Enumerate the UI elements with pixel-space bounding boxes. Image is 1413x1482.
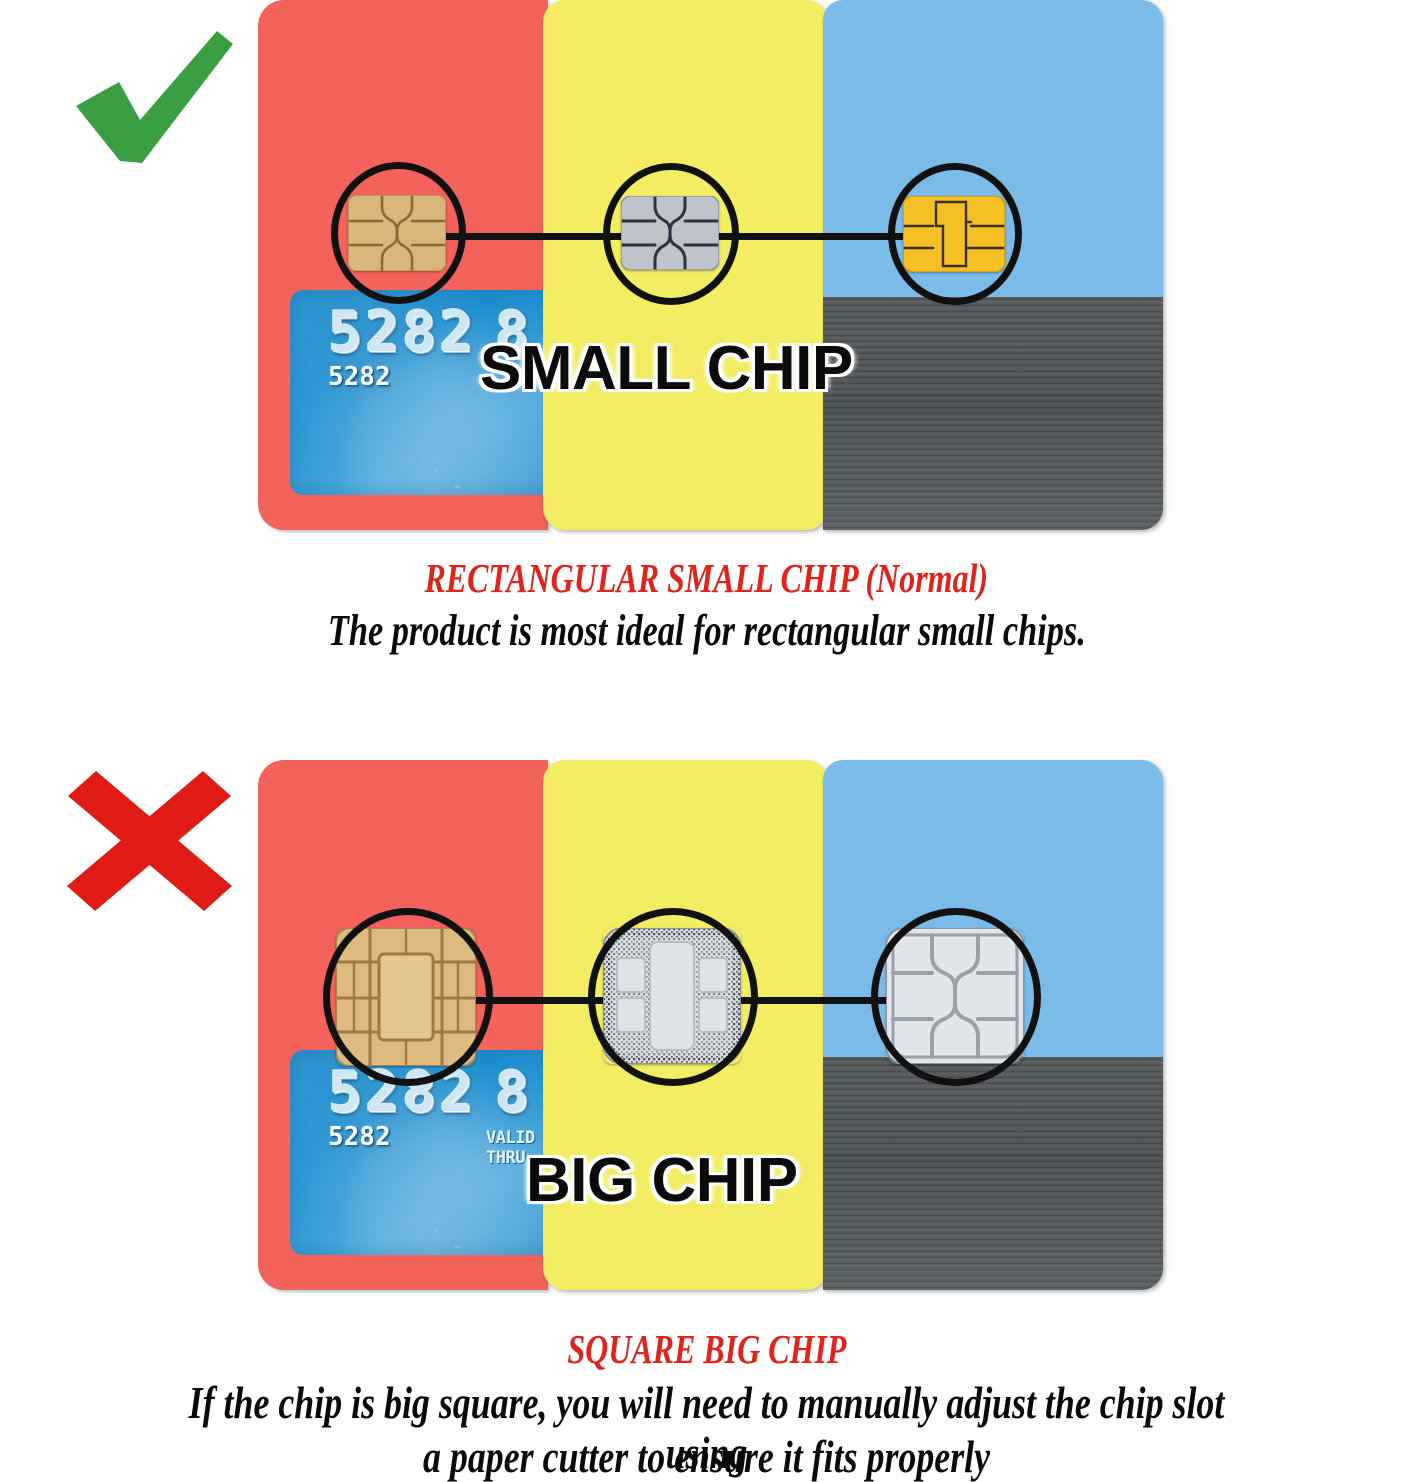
magnetic-stripe (823, 297, 1163, 530)
embossed-card-number-partial-big: 8 (495, 1060, 532, 1125)
magnifier-circle-big-1 (323, 908, 493, 1086)
card-label-small-chip: SMALL CHIP (480, 333, 853, 404)
magnifier-circle-3 (888, 163, 1022, 305)
magnifier-circle-2 (603, 163, 739, 305)
printed-card-number: 5282 (328, 362, 391, 392)
magnifier-circle-big-2 (588, 908, 758, 1086)
printed-card-number-big: 5282 (328, 1122, 391, 1152)
magnifier-circle-big-3 (871, 908, 1041, 1086)
section-big-chip: 5282 8 5282 VALID THRU (0, 740, 1413, 1457)
green-check-icon (62, 28, 237, 173)
section-small-chip: 5282 8 5282 (0, 0, 1413, 700)
card-label-big-chip: BIG CHIP (526, 1145, 798, 1216)
caption-title-small-chip-text: RECTANGULAR SMALL CHIP (Normal) (425, 556, 989, 600)
card-stack-big-chip: 5282 8 5282 VALID THRU (258, 760, 1163, 1290)
magnifier-circle-1 (331, 162, 466, 304)
caption-body-small-chip-text: The product is most ideal for rectangula… (328, 607, 1086, 655)
caption-body-small-chip: The product is most ideal for rectangula… (0, 607, 1413, 655)
caption-title-small-chip: RECTANGULAR SMALL CHIP (Normal) (0, 556, 1413, 600)
magnetic-stripe-big (823, 1057, 1163, 1290)
red-cross-icon (62, 768, 237, 913)
caption-title-big-chip-text: SQUARE BIG CHIP (567, 1327, 846, 1371)
caption-title-big-chip: SQUARE BIG CHIP (0, 1327, 1413, 1371)
card-stack-small-chip: 5282 8 5282 (258, 0, 1163, 530)
embossed-card-number: 5282 (328, 300, 476, 365)
